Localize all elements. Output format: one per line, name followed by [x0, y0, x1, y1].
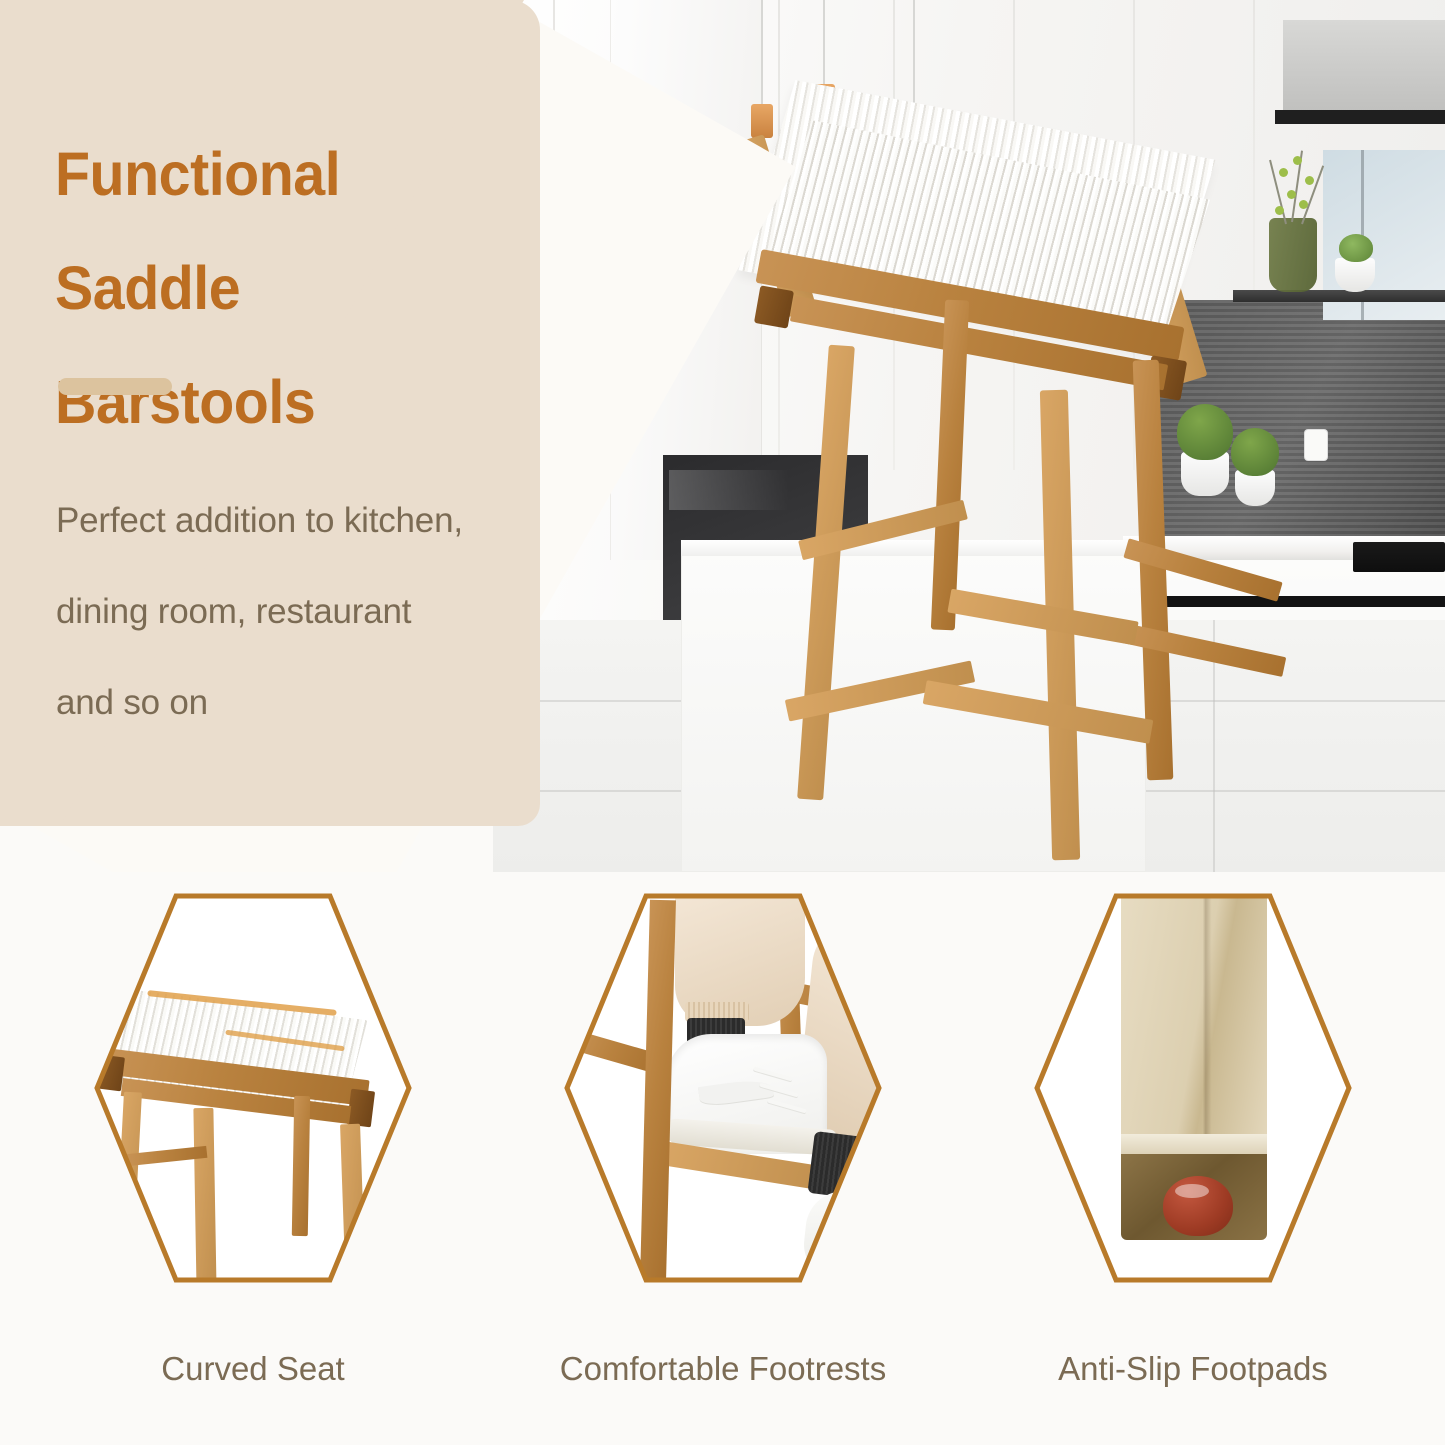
feature-caption-2: Comfortable Footrests	[482, 1350, 964, 1388]
hexagon-outline-1	[93, 892, 413, 1284]
hexagon-outline-3	[1033, 892, 1353, 1284]
feature-row: Curved Seat	[0, 872, 1445, 1445]
feature-curved-seat: Curved Seat	[12, 872, 494, 1445]
product-infographic: Functional Saddle Barstools Perfect addi…	[0, 0, 1445, 1445]
subtitle-line-3: and so on	[56, 657, 576, 748]
subtitle-line-1: Perfect addition to kitchen,	[56, 475, 576, 566]
hexagon-frame-2	[563, 892, 883, 1284]
feature-caption-3: Anti-Slip Footpads	[952, 1350, 1434, 1388]
hexagon-frame-3	[1033, 892, 1353, 1284]
title-divider	[58, 378, 172, 395]
title-line-2: Saddle Barstools	[55, 231, 497, 459]
hexagon-frame-1	[93, 892, 413, 1284]
feature-footpads: Anti-Slip Footpads	[952, 872, 1434, 1445]
feature-caption-1: Curved Seat	[12, 1350, 494, 1388]
page-title: Functional Saddle Barstools	[55, 117, 497, 459]
subtitle-line-2: dining room, restaurant	[56, 566, 576, 657]
hexagon-outline-2	[563, 892, 883, 1284]
title-line-1: Functional	[55, 117, 497, 231]
hero-section: Functional Saddle Barstools Perfect addi…	[0, 0, 1445, 872]
hero-subtitle: Perfect addition to kitchen, dining room…	[56, 475, 576, 748]
feature-footrests: Comfortable Footrests	[482, 872, 964, 1445]
